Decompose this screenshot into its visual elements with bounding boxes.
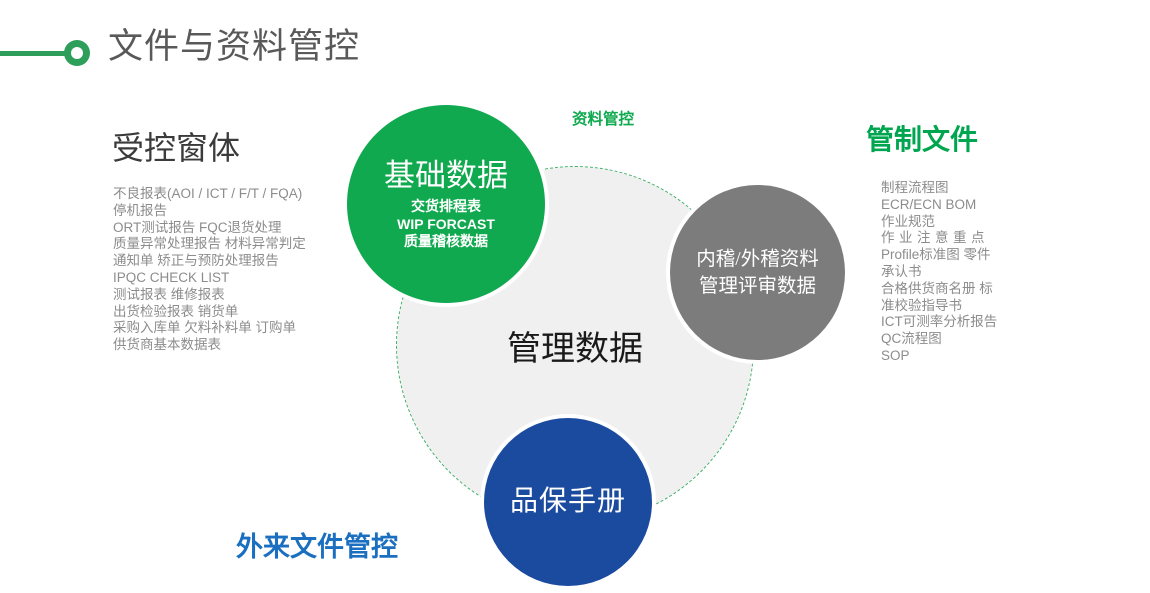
- basic-data-item: 质量稽核数据: [404, 233, 488, 251]
- basic-data-title: 基础数据: [384, 157, 508, 195]
- audit-data-line: 管理评审数据: [699, 273, 816, 300]
- venn-diagram: 管理数据 基础数据 交货排程表 WIP FORCAST 质量稽核数据 内稽/外稽…: [0, 0, 1150, 593]
- audit-data-circle[interactable]: 内稽/外稽资料 管理评审数据: [670, 185, 845, 360]
- quality-manual-label: 品保手册: [510, 485, 626, 519]
- quality-manual-circle[interactable]: 品保手册: [484, 418, 652, 586]
- audit-data-line: 内稽/外稽资料: [696, 246, 818, 273]
- management-data-label: 管理数据: [455, 328, 695, 372]
- basic-data-circle[interactable]: 基础数据 交货排程表 WIP FORCAST 质量稽核数据: [347, 105, 545, 303]
- basic-data-item: WIP FORCAST: [397, 216, 495, 234]
- data-control-label: 资料管控: [572, 110, 634, 130]
- external-docs-control-label: 外来文件管控: [236, 530, 398, 564]
- basic-data-item: 交货排程表: [411, 198, 481, 216]
